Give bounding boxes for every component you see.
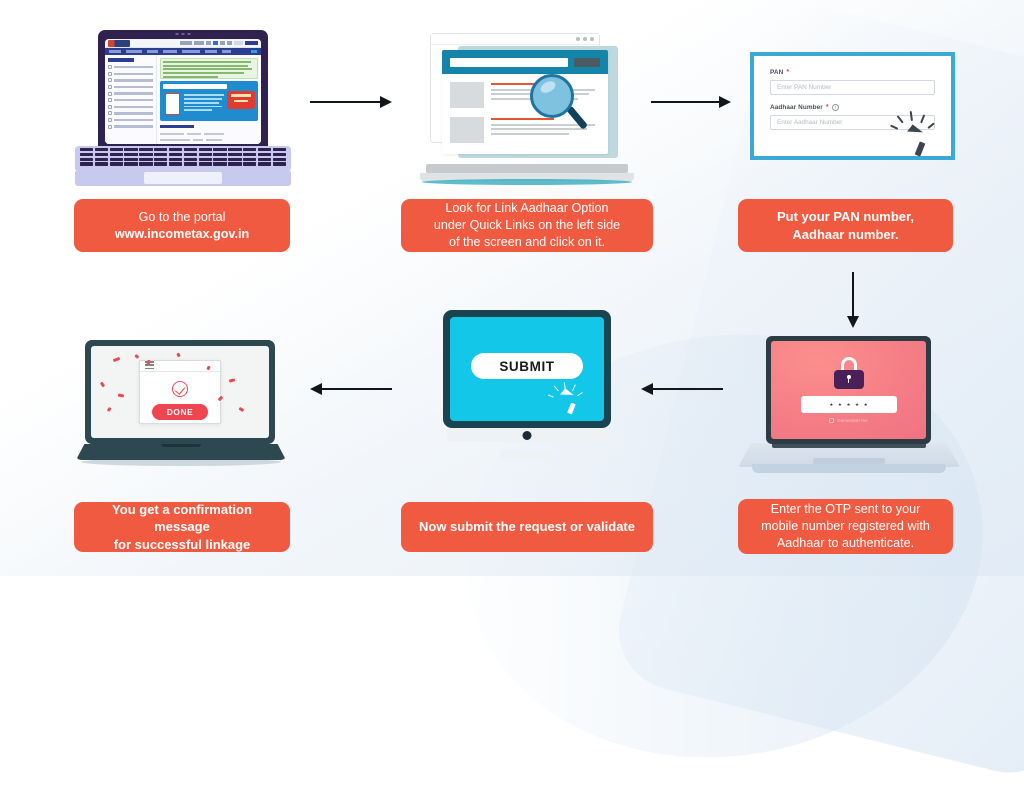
update-row [160,133,258,135]
link-icon [108,118,112,122]
link-icon [108,92,112,96]
caption-step-1: Go to the portal www.incometax.gov.in [74,199,290,252]
confetti [229,378,235,382]
confetti [100,382,105,388]
remember-me-checkbox[interactable]: Remember me [829,418,867,423]
caption-line: You get a confirmation message [84,501,280,536]
laptop-lid [98,30,268,151]
arrow-head-icon [719,96,731,108]
remember-me-label: Remember me [837,418,867,423]
magnifier-icon [530,74,588,132]
arrow-form-to-otp [846,272,860,328]
quick-link-item[interactable] [108,118,153,122]
banner-phone-icon [165,93,180,115]
portal-topbar [105,39,261,48]
quick-link-item[interactable] [108,85,153,89]
click-cursor-icon [898,112,940,158]
laptop-deck [426,164,628,173]
pan-input[interactable]: Enter PAN Number [770,80,935,95]
arrow-head-icon [847,316,859,328]
caption-line: Go to the portal [115,209,249,226]
caption-line: Now submit the request or validate [419,518,635,535]
portal-navbar [105,48,261,55]
webcam-dots-icon [176,33,191,35]
required-asterisk: * [826,104,829,111]
portal-topbar-controls [180,41,258,45]
portal-body [105,55,261,144]
confetti [239,407,245,412]
caption-line: under Quick Links on the left side [434,217,620,234]
quick-links-title [108,58,134,62]
caption-step-3: Put your PAN number, Aadhaar number. [738,199,953,252]
monitor-power-dot [523,431,532,440]
required-asterisk: * [786,69,789,76]
illustration-search-laptop [420,28,634,190]
confetti [118,393,124,397]
info-icon[interactable]: i [832,104,839,111]
magnifier-lens [530,74,574,118]
link-icon [108,125,112,129]
arrow-submit-to-done [310,382,392,396]
result-thumbnail [450,82,484,108]
search-input[interactable] [450,58,568,67]
link-icon [108,72,112,76]
quick-link-item[interactable] [108,65,153,69]
banner-headline [163,84,227,89]
confetti [107,407,111,412]
confetti [113,357,121,362]
caption-line: www.incometax.gov.in [115,226,249,243]
link-icon [108,65,112,69]
caption-step-5: Now submit the request or validate [401,502,653,552]
caption-line: of the screen and click on it. [434,234,620,251]
laptop-shadow [422,179,632,185]
confetti [135,354,140,358]
illustration-otp-laptop: Remember me [738,336,960,481]
quick-link-item[interactable] [108,92,153,96]
caption-step-6: You get a confirmation message for succe… [74,502,290,552]
caption-step-2: Look for Link Aadhaar Option under Quick… [401,199,653,252]
arrow-search-to-form [651,95,731,109]
link-icon [108,78,112,82]
caption-line: Put your PAN number, [777,208,914,225]
quick-link-item[interactable] [108,98,153,102]
laptop-lip [161,444,201,447]
income-tax-logo-icon [108,40,130,47]
mask-dot [864,403,868,407]
pan-label: PAN * [770,69,935,76]
cursor-pointer [560,388,577,404]
update-row [160,139,258,141]
caption-line: Look for Link Aadhaar Option [434,200,620,217]
otp-password-field[interactable] [801,396,897,413]
confetti [218,396,224,402]
otp-login-screen: Remember me [771,341,926,439]
latest-updates-title [160,125,194,128]
link-icon [108,105,112,109]
result-thumbnail [450,117,484,143]
monitor-bezel: SUBMIT [443,310,611,428]
mask-dot [847,403,851,407]
keyboard-keys [80,148,286,166]
confetti [176,353,181,358]
quick-link-item-link-aadhaar[interactable] [108,78,153,82]
arrow-head-icon [641,383,653,395]
portal-notice-box [160,58,258,79]
caption-line: Aadhaar to authenticate. [761,535,930,552]
submit-button[interactable]: SUBMIT [471,353,583,379]
link-icon [108,111,112,115]
arrow-otp-to-submit [641,382,723,396]
link-icon [108,85,112,89]
confirmation-screen: DONE [91,346,269,438]
banner-cta-button[interactable] [227,91,255,109]
quick-links-sidebar[interactable] [105,55,157,144]
quick-link-item[interactable] [108,125,153,129]
illustration-submit-monitor: SUBMIT [437,310,617,470]
laptop-keyboard-base [75,146,291,171]
quick-link-item[interactable] [108,111,153,115]
infographic-stage: PAN * Enter PAN Number Aadhaar Number * … [0,0,1024,576]
laptop-lid: Remember me [766,336,931,444]
cursor-pointer [907,124,927,142]
portal-main-content [157,55,261,144]
caption-step-4: Enter the OTP sent to your mobile number… [738,499,953,554]
laptop-trackpad [144,172,222,184]
monitor-stand [500,450,554,459]
browser-titlebar [431,34,599,45]
portal-promo-banner[interactable] [160,81,258,121]
aadhaar-label: Aadhaar Number * i [770,104,935,111]
search-button[interactable] [574,58,600,67]
quick-link-item[interactable] [108,72,153,76]
illustration-portal-laptop [75,30,291,190]
click-cursor-icon [555,384,581,414]
search-header [442,50,608,74]
quick-link-item[interactable] [108,105,153,109]
padlock-icon [834,357,864,389]
banner-text-lines [184,94,224,113]
arrow-portal-to-search [310,95,392,109]
caption-line: Enter the OTP sent to your [761,501,930,518]
laptop-lid: DONE [85,340,275,444]
link-icon [108,98,112,102]
arrow-head-icon [310,383,322,395]
caption-line: Aadhaar number. [777,226,914,243]
checkbox-icon [829,418,834,423]
mask-dot [838,403,842,407]
portal-website-screen [105,39,261,144]
laptop-foot [752,464,946,473]
mask-dot [855,403,859,407]
caption-line: for successful linkage [84,536,280,553]
check-circle-icon [172,381,188,397]
illustration-pan-aadhaar-form: PAN * Enter PAN Number Aadhaar Number * … [750,52,955,160]
done-button[interactable]: DONE [152,404,208,420]
illustration-done-laptop: DONE [76,340,286,470]
arrow-head-icon [380,96,392,108]
mask-dot [830,403,834,407]
caption-line: mobile number registered with [761,518,930,535]
